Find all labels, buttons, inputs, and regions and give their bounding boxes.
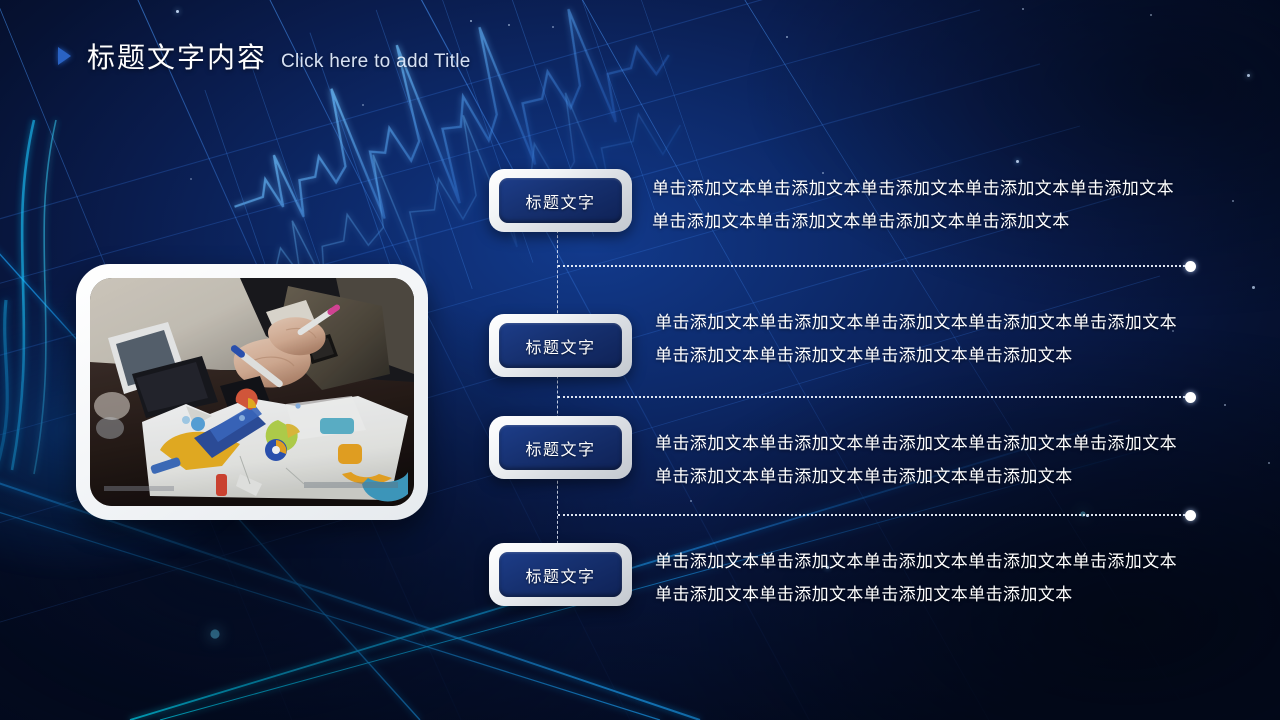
divider-dotted-1 [558,265,1185,267]
row-badge-2[interactable]: 标题文字 [489,314,632,377]
row-badge-inner-1: 标题文字 [499,178,622,223]
row-badge-inner-4: 标题文字 [499,552,622,597]
row-body-1: 单击添加文本单击添加文本单击添加文本单击添加文本单击添加文本单击添加文本单击添加… [652,172,1180,238]
row-badge-label-1: 标题文字 [525,189,595,213]
row-badge-3[interactable]: 标题文字 [489,416,632,479]
row-badge-label-4: 标题文字 [525,563,595,587]
presentation-slide: 标题文字内容 Click here to add Title [0,0,1280,720]
row-body-2: 单击添加文本单击添加文本单击添加文本单击添加文本单击添加文本单击添加文本单击添加… [655,306,1181,372]
row-body-4: 单击添加文本单击添加文本单击添加文本单击添加文本单击添加文本单击添加文本单击添加… [655,545,1181,611]
divider-end-dot-3 [1185,510,1196,521]
divider-dotted-3 [558,514,1185,516]
divider-end-dot-2 [1185,392,1196,403]
row-badge-1[interactable]: 标题文字 [489,169,632,232]
vertical-connector-line [557,200,558,574]
row-body-3: 单击添加文本单击添加文本单击添加文本单击添加文本单击添加文本单击添加文本单击添加… [655,427,1181,493]
row-badge-label-2: 标题文字 [525,334,595,358]
content-rows: 标题文字 单击添加文本单击添加文本单击添加文本单击添加文本单击添加文本单击添加文… [0,0,1280,720]
row-badge-inner-3: 标题文字 [499,425,622,470]
divider-end-dot-1 [1185,261,1196,272]
row-badge-4[interactable]: 标题文字 [489,543,632,606]
divider-dotted-2 [558,396,1185,398]
row-badge-label-3: 标题文字 [525,436,595,460]
row-badge-inner-2: 标题文字 [499,323,622,368]
